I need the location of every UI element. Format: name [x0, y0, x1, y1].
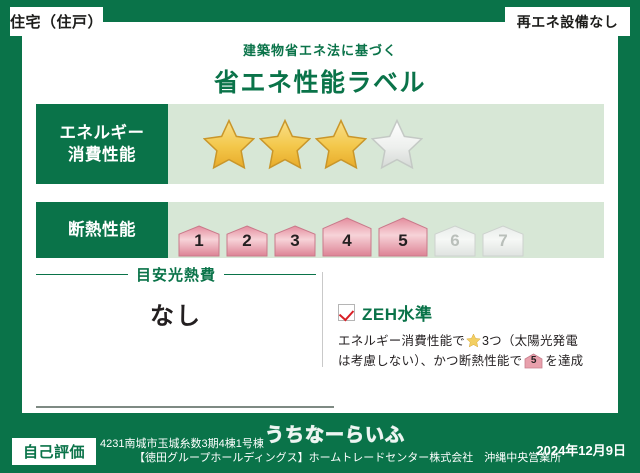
- energy-performance-label: エネルギー 消費性能: [36, 104, 168, 184]
- insulation-level-value: 4: [320, 231, 374, 251]
- renewable-equipment-label: 再エネ設備なし: [517, 12, 619, 32]
- insulation-performance-label: 断熱性能: [36, 202, 168, 258]
- insulation-level-value: 3: [272, 231, 318, 251]
- company-name: 【徳田グループホールディングス】ホームトレードセンター株式会社 沖縄中央営業所: [134, 449, 561, 465]
- zeh-desc-stars: 3つ（太陽光発電: [482, 334, 578, 348]
- zeh-description: エネルギー消費性能で3つ（太陽光発電は考慮しない）、かつ断熱性能で5を達成: [338, 331, 610, 371]
- zeh-standard-block: ZEH水準 エネルギー消費性能で3つ（太陽光発電は考慮しない）、かつ断熱性能で5…: [338, 300, 610, 371]
- insulation-level-6: 6: [432, 224, 478, 258]
- insulation-level-value: 6: [432, 231, 478, 251]
- insulation-level-3: 3: [272, 224, 318, 258]
- insulation-scale: 1234567: [168, 202, 526, 258]
- energy-label-root: 住宅（住戸） 再エネ設備なし 建築物省エネ法に基づく 省エネ性能ラベル エネルギ…: [0, 0, 640, 473]
- self-evaluation-badge: 自己評価: [12, 438, 96, 465]
- energy-cost-heading-text: 目安光熱費: [136, 264, 216, 285]
- label-footer: うちなーらいふ 自己評価 4231南城市玉城糸数3期4棟1号棟 【徳田グループホ…: [0, 415, 640, 473]
- energy-label-line2: 消費性能: [68, 144, 136, 166]
- section-divider: [322, 272, 323, 367]
- footer-rule: [36, 406, 334, 408]
- star-icon-inline: [466, 333, 481, 348]
- star-rating: [168, 118, 423, 170]
- heading-rule-left: [36, 274, 128, 275]
- insulation-level-2: 2: [224, 224, 270, 258]
- label-title-block: 建築物省エネ法に基づく 省エネ性能ラベル: [0, 40, 640, 99]
- zeh-desc-part2: は考慮しない）、かつ断熱性能で: [338, 354, 522, 368]
- insulation-label-text: 断熱性能: [68, 219, 136, 241]
- energy-performance-value: [168, 104, 604, 184]
- insulation-level-4: 4: [320, 216, 374, 258]
- heading-rule-right: [224, 274, 316, 275]
- label-subtitle: 建築物省エネ法に基づく: [0, 40, 640, 59]
- zeh-desc-part1: エネルギー消費性能で: [338, 334, 465, 348]
- zeh-checkbox-checked-icon: [338, 304, 355, 321]
- zeh-title-text: ZEH水準: [362, 300, 433, 325]
- insulation-level-7: 7: [480, 224, 526, 258]
- insulation-level-value: 5: [376, 231, 430, 251]
- watermark: うちなーらいふ: [265, 420, 405, 447]
- zeh-desc-part3: を達成: [545, 354, 583, 368]
- building-type-badge: 住宅（住戸）: [10, 7, 103, 36]
- insulation-level-1: 1: [176, 224, 222, 258]
- label-main-title: 省エネ性能ラベル: [0, 63, 640, 99]
- insulation-level-5: 5: [376, 216, 430, 258]
- star-icon-filled: [259, 118, 311, 170]
- star-icon-filled: [315, 118, 367, 170]
- house-icon-inline: 5: [524, 353, 543, 369]
- insulation-level-value: 1: [176, 231, 222, 251]
- energy-performance-row: エネルギー 消費性能: [36, 104, 604, 184]
- insulation-level-value: 7: [480, 231, 526, 251]
- energy-cost-value: なし: [36, 296, 316, 331]
- star-icon-filled: [203, 118, 255, 170]
- inline-house-value: 5: [524, 353, 543, 369]
- insulation-performance-row: 断熱性能 1234567: [36, 202, 604, 258]
- insulation-level-value: 2: [224, 231, 270, 251]
- energy-cost-heading: 目安光熱費: [36, 264, 316, 285]
- insulation-performance-value: 1234567: [168, 202, 604, 258]
- energy-label-line1: エネルギー: [60, 122, 145, 144]
- zeh-heading: ZEH水準: [338, 300, 610, 325]
- renewable-equipment-badge: 再エネ設備なし: [505, 7, 630, 36]
- issue-date: 2024年12月9日: [536, 440, 626, 459]
- star-icon-empty: [371, 118, 423, 170]
- building-type-label: 住宅（住戸）: [10, 11, 103, 32]
